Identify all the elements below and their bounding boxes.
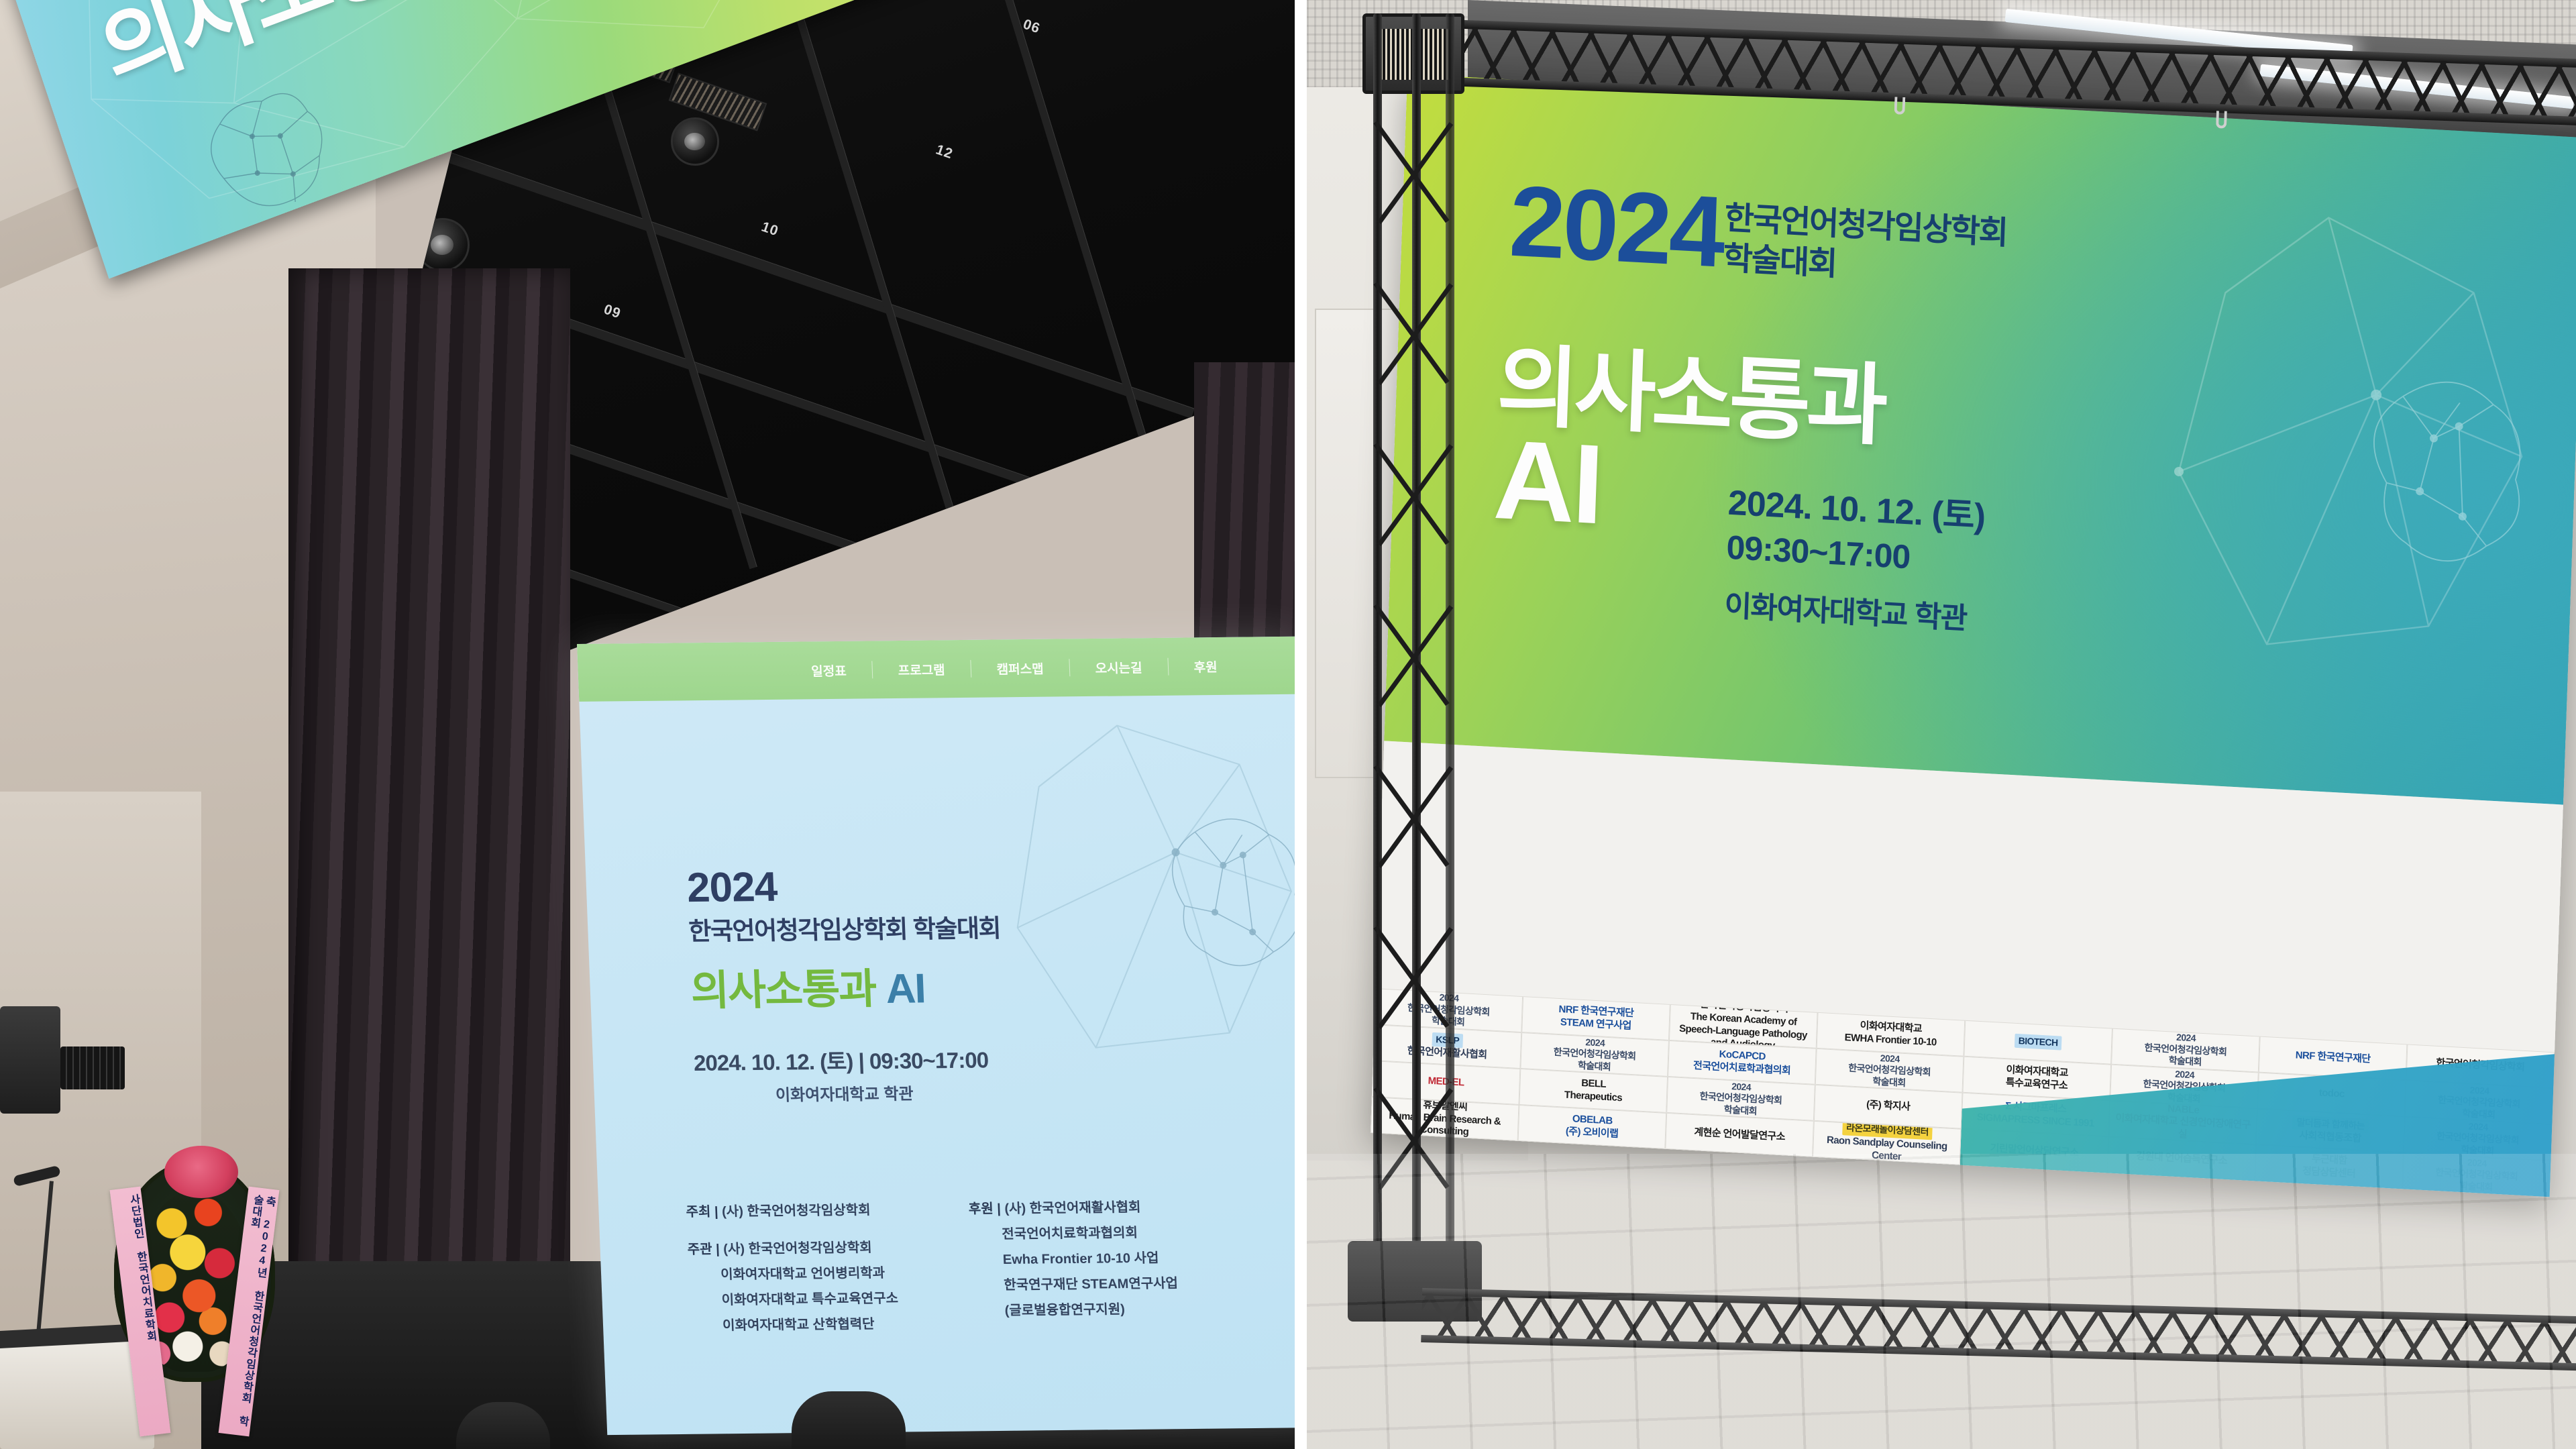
sponsor-logo-text: KoCAPCD전국언어치료학과협의회 (1693, 1047, 1791, 1077)
lobby-room: PS (1307, 0, 2576, 1449)
banner-date: 2024. 10. 12. (토) (1727, 474, 1986, 539)
wall-control-panel (60, 1046, 125, 1089)
sponsor-logo-text: 2024한국언어청각임상학회학술대회 (1699, 1079, 1782, 1118)
slide-title-ai: AI (885, 965, 926, 1012)
credit-line: Ewha Frontier 10-10 사업 (970, 1245, 1177, 1273)
sponsor-logo-text: OBELAB(주) 오비이랩 (1566, 1113, 1619, 1141)
sponsor-logo-text: 계현순 언어발달연구소 (1694, 1126, 1785, 1144)
banner-sponsor-area: 2024한국언어청각임상학회학술대회NRF 한국연구재단STEAM 연구사업한국… (1371, 741, 2563, 1197)
wreath-ribbon-bow (164, 1146, 238, 1198)
stage-light-icon (416, 218, 470, 272)
collage-divider (1295, 0, 1307, 1449)
credit-line: 주최 | (사) 한국언어청각임상학회 (686, 1197, 896, 1225)
credit-line: 이화여자대학교 산학협력단 (690, 1311, 900, 1339)
sponsor-logo-text: 2024한국언어청각임상학회학술대회 (1553, 1034, 1636, 1074)
brain-network-graphic (2110, 180, 2558, 753)
sponsor-logo-text: (주) 학지사 (1866, 1099, 1911, 1114)
slide-title: 의사소통과 AI (690, 954, 926, 1017)
sponsor-cell: 계현순 언어발달연구소 (1665, 1113, 1814, 1157)
sponsor-cell: OBELAB(주) 오비이랩 (1518, 1105, 1667, 1149)
credit-line: 후원 | (사) 한국언어재활사협회 (968, 1194, 1175, 1222)
nav-divider (1167, 658, 1169, 676)
slide-credits: 주최 | (사) 한국언어청각임상학회 주관 | (사) 한국언어청각임상학회 … (686, 1193, 1281, 1339)
slide-nav-item: 캠퍼스맵 (996, 659, 1044, 678)
loudspeaker (0, 1006, 60, 1114)
banner-time: 09:30~17:00 (1726, 528, 1911, 577)
banner-gradient-top: 2024 한국언어청각임상학회 학술대회 의사소통과 AI 2024. 10. … (1384, 74, 2576, 805)
credit-line: 이화여자대학교 언어병리학과 (688, 1260, 898, 1288)
sponsor-logo-text: BELLTherapeutics (1564, 1077, 1623, 1105)
sponsor-logo-text: NRF 한국연구재단 (2295, 1050, 2370, 1067)
credit-line: (글로벌융합연구지원) (972, 1296, 1179, 1324)
left-photo-auditorium: 06 08 09 10 12 (0, 0, 1295, 1449)
credit-line: 이화여자대학교 특수교육연구소 (689, 1286, 899, 1313)
projection-screen: 일정표 프로그램 캠퍼스맵 오시는길 후원 (577, 637, 1295, 1435)
nav-divider (970, 660, 971, 678)
slide-venue: 이화여자대학교 학관 (775, 1081, 914, 1106)
rig-grid-label: 12 (934, 142, 955, 163)
photo-collage: 06 08 09 10 12 (0, 0, 2576, 1449)
banner-hook (1894, 97, 1905, 115)
slide-credits-sponsor-column: 후원 | (사) 한국언어재활사협회 전국언어치료학과협의회 Ewha Fron… (968, 1194, 1180, 1336)
slide-title-korean: 의사소통과 (690, 966, 877, 1014)
credit-line: 한국연구재단 STEAM연구사업 (971, 1271, 1179, 1298)
credit-line: 전국언어치료학과협의회 (969, 1220, 1177, 1247)
slide-nav-item: 프로그램 (898, 660, 945, 679)
sponsor-logo-text: 이화여자대학교특수교육연구소 (2006, 1064, 2069, 1092)
rig-grid-label: 10 (759, 219, 781, 240)
slide-date-time: 2024. 10. 12. (토) | 09:30~17:00 (693, 1042, 989, 1077)
slide-nav-item: 오시는길 (1095, 658, 1142, 677)
rig-grid-label: 09 (602, 302, 623, 323)
nav-divider (1069, 659, 1070, 676)
slide-credits-host-column: 주최 | (사) 한국언어청각임상학회 주관 | (사) 한국언어청각임상학회 … (686, 1197, 900, 1339)
right-photo-backdrop-banner: PS (1307, 0, 2576, 1449)
banner-year: 2024 (1508, 170, 1725, 282)
sponsor-logo-text: 2024한국언어청각임상학회학술대회 (2144, 1030, 2227, 1070)
rig-grid-label: 06 (1021, 17, 1042, 38)
sponsor-logo-text: NRF 한국연구재단STEAM 연구사업 (1558, 1004, 1634, 1033)
sponsor-logo-text: 2024한국언어청각임상학회학술대회 (1847, 1051, 1931, 1090)
nav-divider (871, 661, 873, 678)
banner-society: 한국언어청각임상학회 학술대회 (1723, 199, 2008, 294)
stage-light-icon (671, 117, 719, 166)
slide-nav-item: 일정표 (811, 661, 847, 680)
congratulatory-flower-wreath: 사단법인 한국언어치료학회 축 2024년 한국언어청각임상학회 학술대회 (101, 1134, 288, 1449)
chair (792, 1391, 906, 1449)
banner-hook (2216, 111, 2227, 129)
truss-tower (1371, 13, 1458, 1322)
slide-society: 한국언어청각임상학회 학술대회 (688, 908, 1001, 947)
banner-venue: 이화여자대학교 학관 (1724, 582, 1968, 638)
sponsor-logo-text: BIOTECH (2014, 1034, 2061, 1051)
event-backdrop-banner: 2024 한국언어청각임상학회 학술대회 의사소통과 AI 2024. 10. … (1371, 74, 2576, 1197)
slide-year: 2024 (686, 863, 778, 912)
slide-nav-item: 후원 (1193, 657, 1218, 675)
credit-line: 주관 | (사) 한국언어청각임상학회 (687, 1235, 897, 1263)
auditorium-room: 06 08 09 10 12 (0, 0, 1295, 1449)
sponsor-logo-text: 이화여자대학교EWHA Frontier 10-10 (1844, 1019, 1937, 1049)
floor (1307, 1154, 2576, 1449)
